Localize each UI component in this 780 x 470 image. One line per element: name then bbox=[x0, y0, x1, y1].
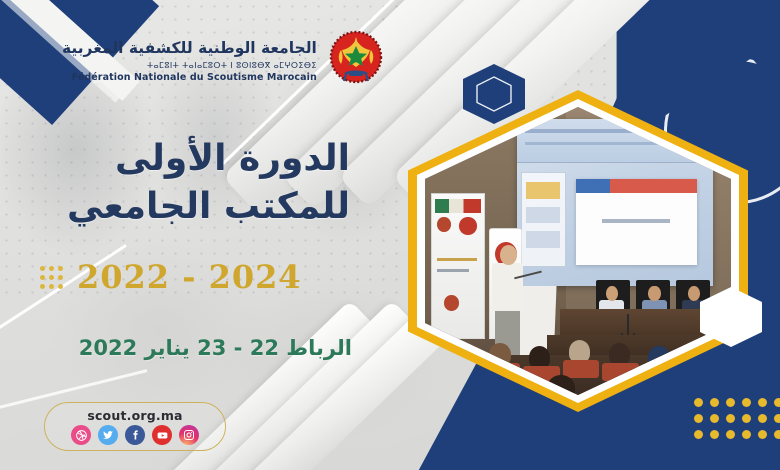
dribbble-icon[interactable] bbox=[71, 425, 91, 445]
federation-name-tifinagh: ⵜⴰⵎⵓⵏⵜ ⵜⴰⵏⴰⵎⵓⵔⵜ ⵏ ⵓⵙⵏⵓⴱⴳ ⴰⵎⵖⵔⵉⴱⵉ bbox=[62, 61, 317, 70]
photo-banner-writing-1 bbox=[437, 258, 477, 261]
dot bbox=[49, 275, 54, 280]
hexagon-photo-frame bbox=[408, 90, 748, 412]
photo-screen-ribbon-row-1 bbox=[525, 129, 705, 133]
title-line-1: الدورة الأولى bbox=[40, 135, 350, 183]
youtube-icon[interactable] bbox=[152, 425, 172, 445]
photo-seated-head-1 bbox=[606, 286, 618, 302]
photo-screen-side-panel bbox=[521, 172, 566, 268]
dot bbox=[40, 266, 45, 271]
federation-logo-block: الجامعة الوطنية للكشفية المغربية ⵜⴰⵎⵓⵏⵜ … bbox=[62, 26, 362, 96]
dot bbox=[726, 414, 735, 423]
dot bbox=[758, 430, 767, 439]
photo-audience-seat bbox=[440, 369, 480, 386]
photo-seated-head-2 bbox=[648, 286, 660, 302]
social-icons-row bbox=[71, 425, 199, 445]
federation-name-arabic: الجامعة الوطنية للكشفية المغربية bbox=[62, 39, 317, 58]
photo-banner-left bbox=[431, 193, 485, 339]
dot bbox=[694, 398, 703, 407]
social-footer-pill: scout.org.ma bbox=[44, 402, 226, 451]
term-years: 2024 - 2022 bbox=[77, 258, 302, 296]
dot bbox=[58, 284, 63, 289]
photo-banner-logo-3 bbox=[444, 295, 460, 311]
dot bbox=[49, 266, 54, 271]
dot bbox=[40, 284, 45, 289]
photo-speaker-head bbox=[500, 245, 517, 265]
dot bbox=[710, 414, 719, 423]
photo-screen-panel-item-2 bbox=[526, 207, 560, 224]
dot bbox=[40, 275, 45, 280]
dot bbox=[726, 430, 735, 439]
event-place-date: الرباط 22 - 23 يناير 2022 bbox=[40, 336, 352, 360]
dot bbox=[742, 430, 751, 439]
dot bbox=[694, 430, 703, 439]
dot bbox=[774, 414, 780, 423]
photo-speaker-body bbox=[492, 263, 523, 312]
photo-screen-panel-item-3 bbox=[526, 231, 560, 248]
gold-dot-grid-large bbox=[694, 398, 780, 439]
dot bbox=[710, 430, 719, 439]
photo-screen-document-header bbox=[576, 179, 697, 193]
website-url[interactable]: scout.org.ma bbox=[87, 408, 182, 423]
photo-screen-panel-item-1 bbox=[526, 182, 560, 199]
dot bbox=[742, 398, 751, 407]
photo-banner-logo-1 bbox=[459, 217, 477, 234]
twitter-icon[interactable] bbox=[98, 425, 118, 445]
dot bbox=[758, 414, 767, 423]
scout-fleur-de-lis-emblem-icon bbox=[327, 29, 385, 93]
photo-screen-document bbox=[576, 179, 697, 266]
photo-audience-seat bbox=[682, 363, 722, 380]
dot bbox=[726, 398, 735, 407]
photo-audience-seat bbox=[563, 360, 600, 377]
dot bbox=[774, 430, 780, 439]
term-years-row: 2024 - 2022 bbox=[40, 258, 352, 296]
dot bbox=[742, 414, 751, 423]
dot bbox=[710, 398, 719, 407]
federation-name-french: Fédération Nationale du Scoutisme Maroca… bbox=[62, 72, 317, 83]
photo-banner-flag bbox=[435, 199, 481, 213]
photo-banner-writing-2 bbox=[437, 269, 468, 272]
dot bbox=[58, 275, 63, 280]
page-title: الدورة الأولى للمكتب الجامعي bbox=[40, 135, 350, 230]
dot bbox=[758, 398, 767, 407]
poster-canvas: الجامعة الوطنية للكشفية المغربية ⵜⴰⵎⵓⵏⵜ … bbox=[0, 0, 780, 470]
dot bbox=[58, 266, 63, 271]
hexagon-outline-icon bbox=[474, 75, 514, 113]
photo-audience-head bbox=[474, 378, 502, 395]
federation-logo-texts: الجامعة الوطنية للكشفية المغربية ⵜⴰⵎⵓⵏⵜ … bbox=[62, 39, 317, 83]
title-line-2: للمكتب الجامعي bbox=[40, 183, 350, 231]
gold-dot-grid-small bbox=[40, 266, 63, 289]
dot bbox=[774, 398, 780, 407]
facebook-icon[interactable] bbox=[125, 425, 145, 445]
photo-banner-logo-2 bbox=[437, 217, 451, 231]
photo-screen-document-text bbox=[602, 219, 670, 223]
dot bbox=[49, 284, 54, 289]
instagram-icon[interactable] bbox=[179, 425, 199, 445]
dot bbox=[694, 414, 703, 423]
